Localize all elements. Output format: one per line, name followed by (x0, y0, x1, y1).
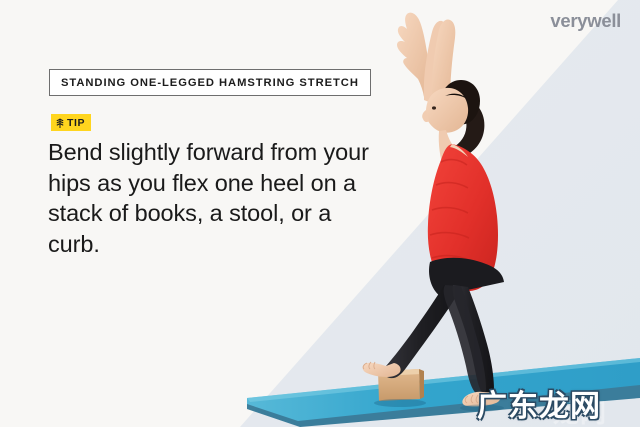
tip-body-text: Bend slightly forward from your hips as … (48, 137, 378, 259)
tip-badge: TIP (51, 114, 91, 131)
screenshot-canvas: STANDING ONE-LEGGED HAMSTRING STRETCH TI… (0, 0, 640, 427)
tip-badge-label: TIP (67, 117, 85, 129)
verywell-logo: verywell (550, 10, 621, 32)
exercise-title-box: STANDING ONE-LEGGED HAMSTRING STRETCH (49, 69, 371, 96)
watermark-text: 广东龙网 (477, 381, 601, 425)
page-title: STANDING ONE-LEGGED HAMSTRING STRETCH (61, 77, 359, 89)
wheat-icon (55, 117, 65, 128)
